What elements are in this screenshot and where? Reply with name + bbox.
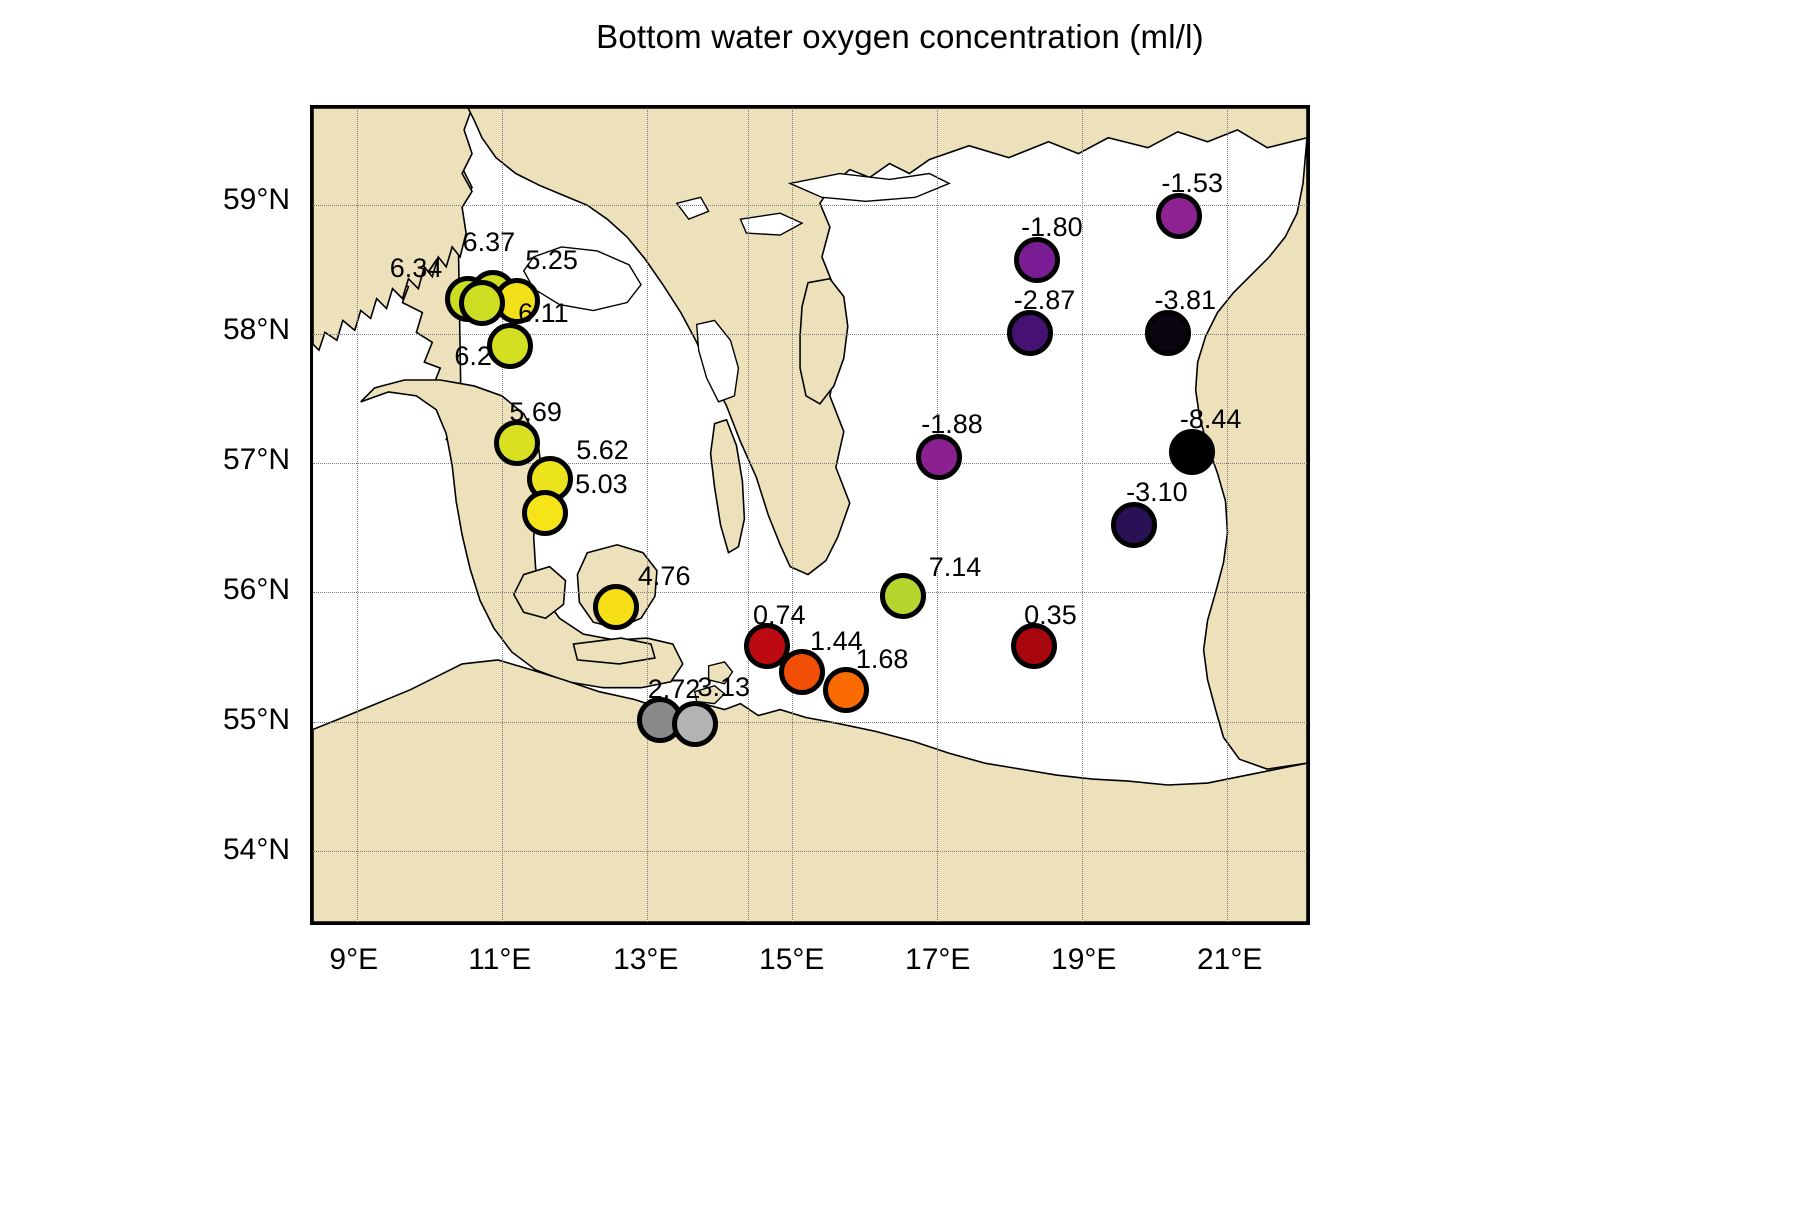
data-point-label: 7.14 <box>929 552 982 583</box>
data-point-marker[interactable] <box>779 649 825 695</box>
grid-line-lat-56 <box>313 592 1307 593</box>
data-point-label: 5.62 <box>576 435 629 466</box>
y-tick-54: 54°N <box>130 833 290 867</box>
x-tick-15: 15°E <box>712 943 872 977</box>
data-point-marker[interactable] <box>1007 310 1053 356</box>
grid-line-lon-13 <box>647 108 648 922</box>
grid-line-lat-57 <box>313 463 1307 464</box>
data-point-marker[interactable] <box>1111 502 1157 548</box>
data-point-marker[interactable] <box>487 323 533 369</box>
data-point-label: 5.03 <box>575 469 628 500</box>
data-point-marker[interactable] <box>1169 429 1215 475</box>
grid-line-lon-17 <box>937 108 938 922</box>
map-canvas[interactable]: 6.346.375.256.266.115.695.625.034.767.14… <box>310 105 1310 925</box>
data-point-label: 6.34 <box>390 253 443 284</box>
data-point-label: 1.68 <box>856 644 909 675</box>
page-title: Bottom water oxygen concentration (ml/l) <box>0 18 1800 56</box>
y-tick-55: 55°N <box>130 703 290 737</box>
data-point-marker[interactable] <box>880 573 926 619</box>
x-tick-19: 19°E <box>1004 943 1164 977</box>
x-tick-13: 13°E <box>566 943 726 977</box>
data-point-marker[interactable] <box>1011 623 1057 669</box>
x-tick-17: 17°E <box>858 943 1018 977</box>
data-point-marker[interactable] <box>522 490 568 536</box>
y-tick-59: 59°N <box>130 183 290 217</box>
y-tick-57: 57°N <box>130 443 290 477</box>
data-point-marker[interactable] <box>494 420 540 466</box>
x-tick-9: 9°E <box>274 943 434 977</box>
data-point-label: 5.25 <box>525 245 578 276</box>
data-point-marker[interactable] <box>916 434 962 480</box>
y-tick-56: 56°N <box>130 573 290 607</box>
grid-line-lon-9 <box>748 108 749 922</box>
grid-line-lon-9b <box>357 108 358 922</box>
lolland-island <box>573 638 655 664</box>
y-tick-58: 58°N <box>130 313 290 347</box>
data-point-label: 3.13 <box>697 672 750 703</box>
data-point-label: 1.44 <box>810 626 863 657</box>
grid-line-lat-54 <box>313 851 1307 852</box>
data-point-marker[interactable] <box>823 667 869 713</box>
data-point-marker[interactable] <box>593 584 639 630</box>
data-point-label: 4.76 <box>638 561 691 592</box>
data-point-label: 6.37 <box>463 227 516 258</box>
grid-line-lon-15 <box>792 108 793 922</box>
data-point-label: 6.11 <box>518 298 569 329</box>
data-point-marker[interactable] <box>672 701 718 747</box>
grid-line-lon-21 <box>1227 108 1228 922</box>
x-tick-21: 21°E <box>1150 943 1310 977</box>
x-tick-11: 11°E <box>420 943 580 977</box>
grid-line-lat-55 <box>313 722 1307 723</box>
